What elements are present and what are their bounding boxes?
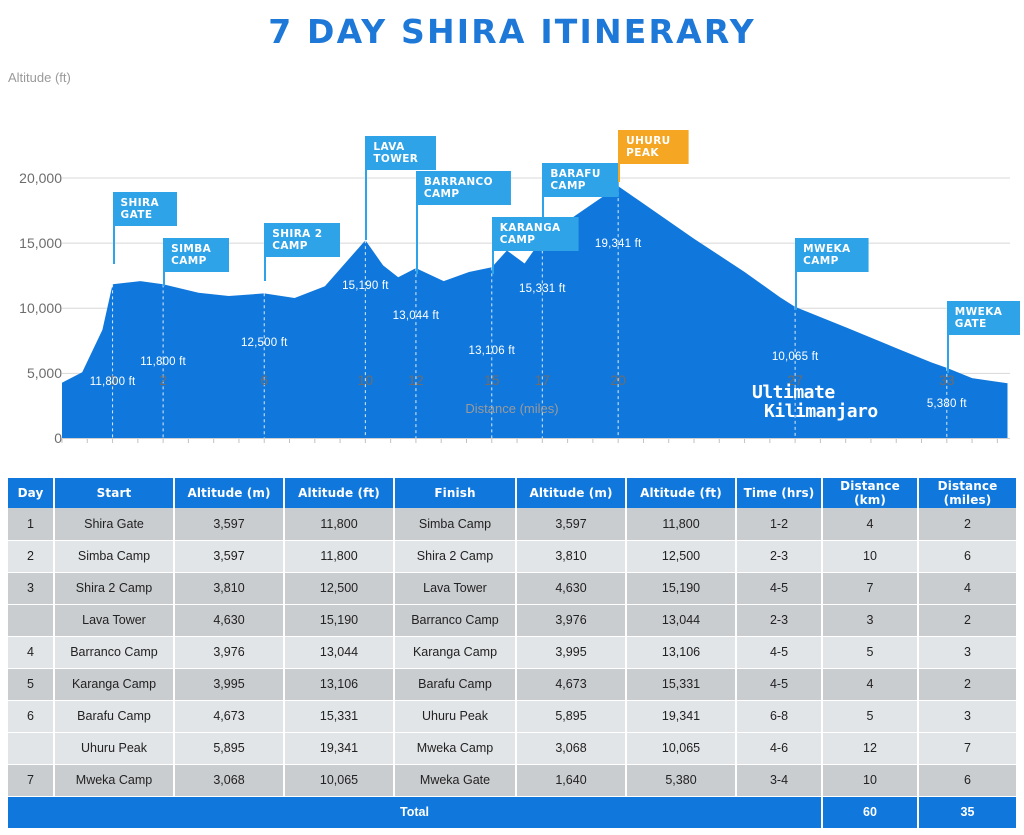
- table-cell: [8, 604, 54, 636]
- watermark-line2: Kilimanjaro: [764, 402, 878, 421]
- flag-banner: UHURUPEAK: [619, 130, 688, 164]
- table-row: Uhuru Peak5,89519,341Mweka Camp3,06810,0…: [8, 732, 1016, 764]
- table-cell: 4,630: [174, 604, 284, 636]
- x-axis-tick-label: 6: [260, 372, 268, 388]
- y-axis-tick-label: 15,000: [0, 235, 62, 251]
- table-row: 7Mweka Camp3,06810,065Mweka Gate1,6405,3…: [8, 764, 1016, 796]
- table-cell: Shira Gate: [54, 508, 174, 540]
- flag-label-line: TOWER: [373, 153, 418, 165]
- flag-label-line: SHIRA 2: [272, 228, 322, 240]
- table-column-header[interactable]: Time (hrs): [736, 478, 822, 508]
- table-cell: 10,065: [626, 732, 736, 764]
- table-cell: 3,810: [516, 540, 626, 572]
- x-axis-tick-label: 10: [358, 372, 374, 388]
- altitude-value-label: 12,500 ft: [241, 337, 288, 349]
- table-column-header[interactable]: Altitude (ft): [284, 478, 394, 508]
- table-cell: 5,380: [626, 764, 736, 796]
- table-cell: 12,500: [626, 540, 736, 572]
- flag-banner: SIMBACAMP: [164, 238, 229, 272]
- table-cell: 4-5: [736, 572, 822, 604]
- table-cell: 2-3: [736, 604, 822, 636]
- table-column-header[interactable]: Day: [8, 478, 54, 508]
- table-cell: 4: [918, 572, 1016, 604]
- altitude-value-label: 15,190 ft: [342, 280, 389, 292]
- table-cell: 19,341: [626, 700, 736, 732]
- x-axis-tick-label: 17: [535, 372, 551, 388]
- table-cell: 3,995: [174, 668, 284, 700]
- y-axis-tick-label: 10,000: [0, 300, 62, 316]
- table-cell: Mweka Camp: [54, 764, 174, 796]
- y-axis-title: Altitude (ft): [8, 70, 71, 85]
- flag-banner: MWEKACAMP: [796, 238, 868, 272]
- table-cell: 13,044: [626, 604, 736, 636]
- table-cell: [8, 732, 54, 764]
- flag-label-line: UHURU: [626, 135, 670, 147]
- table-column-header[interactable]: Altitude (ft): [626, 478, 736, 508]
- table-cell: 11,800: [626, 508, 736, 540]
- table-cell: 2: [918, 508, 1016, 540]
- altitude-value-label: 13,106 ft: [468, 345, 515, 357]
- table-cell: 6: [8, 700, 54, 732]
- table-cell: 4: [822, 668, 918, 700]
- table-cell: Barafu Camp: [54, 700, 174, 732]
- table-column-header[interactable]: Distance (km): [822, 478, 918, 508]
- table-cell: 4,673: [174, 700, 284, 732]
- table-header-row: DayStartAltitude (m)Altitude (ft)FinishA…: [8, 478, 1016, 508]
- table-cell: 13,044: [284, 636, 394, 668]
- table-cell: 4: [8, 636, 54, 668]
- table-cell: 3: [918, 700, 1016, 732]
- table-cell: 5: [822, 636, 918, 668]
- table-cell: 3,597: [516, 508, 626, 540]
- y-axis-tick-label: 5,000: [0, 365, 62, 381]
- table-row: 6Barafu Camp4,67315,331Uhuru Peak5,89519…: [8, 700, 1016, 732]
- table-cell: 3-4: [736, 764, 822, 796]
- table-cell: Uhuru Peak: [54, 732, 174, 764]
- table-cell: 4-5: [736, 668, 822, 700]
- table-cell: 3,976: [516, 604, 626, 636]
- table-body: 1Shira Gate3,59711,800Simba Camp3,59711,…: [8, 508, 1016, 828]
- flag-label-line: CAMP: [803, 255, 850, 267]
- table-column-header[interactable]: Finish: [394, 478, 516, 508]
- table-cell: 13,106: [626, 636, 736, 668]
- table-cell: 5,895: [516, 700, 626, 732]
- x-axis-tick-label: 33: [939, 372, 955, 388]
- x-axis-tick-label: 2: [159, 372, 167, 388]
- table-cell: 5: [822, 700, 918, 732]
- table-cell: 5,895: [174, 732, 284, 764]
- altitude-value-label: 11,800 ft: [140, 356, 186, 368]
- flag-banner: MWEKAGATE: [948, 301, 1020, 335]
- table-cell: 15,331: [626, 668, 736, 700]
- flag-label-line: SHIRA: [121, 197, 159, 209]
- table-cell: 4-6: [736, 732, 822, 764]
- table-cell: Uhuru Peak: [394, 700, 516, 732]
- table-column-header[interactable]: Altitude (m): [174, 478, 284, 508]
- table-cell: 3: [8, 572, 54, 604]
- y-axis-tick-label: 20,000: [0, 170, 62, 186]
- altitude-value-label: 19,341 ft: [595, 238, 642, 250]
- table-cell: 5: [8, 668, 54, 700]
- table-cell: Barranco Camp: [54, 636, 174, 668]
- page-title: 7 DAY SHIRA ITINERARY: [0, 0, 1024, 58]
- table-cell: 10: [822, 764, 918, 796]
- x-axis-tick-label: 12: [408, 372, 424, 388]
- table-cell: Mweka Camp: [394, 732, 516, 764]
- flag-label-line: GATE: [121, 209, 159, 221]
- table-row: 2Simba Camp3,59711,800Shira 2 Camp3,8101…: [8, 540, 1016, 572]
- table-cell: 15,190: [284, 604, 394, 636]
- altitude-value-label: 11,800 ft: [90, 376, 136, 388]
- altitude-value-label: 13,044 ft: [393, 310, 440, 322]
- altitude-value-label: 10,065 ft: [772, 351, 819, 363]
- table-row: 4Barranco Camp3,97613,044Karanga Camp3,9…: [8, 636, 1016, 668]
- table-cell: 13,106: [284, 668, 394, 700]
- itinerary-table: DayStartAltitude (m)Altitude (ft)FinishA…: [8, 478, 1016, 829]
- table-cell: 2-3: [736, 540, 822, 572]
- table-cell: 11,800: [284, 508, 394, 540]
- table-cell: 3,995: [516, 636, 626, 668]
- table-row: Lava Tower4,63015,190Barranco Camp3,9761…: [8, 604, 1016, 636]
- table-cell: 1: [8, 508, 54, 540]
- table-column-header[interactable]: Altitude (m): [516, 478, 626, 508]
- table-row: 5Karanga Camp3,99513,106Barafu Camp4,673…: [8, 668, 1016, 700]
- total-distance-km: 60: [822, 796, 918, 828]
- table-cell: Simba Camp: [54, 540, 174, 572]
- table-cell: 12: [822, 732, 918, 764]
- table-cell: Shira 2 Camp: [54, 572, 174, 604]
- flag-banner: LAVATOWER: [366, 136, 436, 170]
- table-cell: 12,500: [284, 572, 394, 604]
- table-cell: 19,341: [284, 732, 394, 764]
- altitude-value-label: 5,380 ft: [927, 398, 967, 410]
- table-cell: Shira 2 Camp: [394, 540, 516, 572]
- flag-label-line: MWEKA: [803, 243, 850, 255]
- flag-label-line: CAMP: [272, 240, 322, 252]
- flag-label-line: SIMBA: [171, 243, 211, 255]
- table-cell: 7: [918, 732, 1016, 764]
- table-cell: 10,065: [284, 764, 394, 796]
- watermark-logo: Ultimate Kilimanjaro: [752, 383, 878, 421]
- table-cell: 3,597: [174, 540, 284, 572]
- table-cell: Karanga Camp: [394, 636, 516, 668]
- table-cell: 2: [918, 668, 1016, 700]
- flag-banner: BARRANCOCAMP: [417, 171, 511, 205]
- table-cell: 3: [918, 636, 1016, 668]
- table-cell: 7: [8, 764, 54, 796]
- table-cell: 15,331: [284, 700, 394, 732]
- table-cell: 4,673: [516, 668, 626, 700]
- table-cell: 10: [822, 540, 918, 572]
- x-axis-tick-label: 15: [484, 372, 500, 388]
- table-header: DayStartAltitude (m)Altitude (ft)FinishA…: [8, 478, 1016, 508]
- table-cell: Karanga Camp: [54, 668, 174, 700]
- table-column-header[interactable]: Start: [54, 478, 174, 508]
- flag-label-line: BARAFU: [550, 168, 600, 180]
- table-cell: 1-2: [736, 508, 822, 540]
- table-cell: Barranco Camp: [394, 604, 516, 636]
- flag-label-line: KARANGA: [500, 222, 561, 234]
- total-label: Total: [8, 796, 822, 828]
- table-cell: Barafu Camp: [394, 668, 516, 700]
- total-distance-miles: 35: [918, 796, 1016, 828]
- table-row: 3Shira 2 Camp3,81012,500Lava Tower4,6301…: [8, 572, 1016, 604]
- table-cell: 3,810: [174, 572, 284, 604]
- table-cell: 2: [918, 604, 1016, 636]
- table-cell: 3: [822, 604, 918, 636]
- flag-banner: BARAFUCAMP: [543, 163, 618, 197]
- altitude-value-label: 15,331 ft: [519, 283, 566, 295]
- table-cell: 3,068: [174, 764, 284, 796]
- flag-banner: KARANGACAMP: [493, 217, 579, 251]
- x-axis-tick-marks: [62, 439, 997, 443]
- table-cell: 6: [918, 540, 1016, 572]
- flag-label-line: CAMP: [500, 234, 561, 246]
- table-cell: 6: [918, 764, 1016, 796]
- flag-banner: SHIRA 2CAMP: [265, 223, 340, 257]
- table-cell: Lava Tower: [394, 572, 516, 604]
- table-column-header[interactable]: Distance (miles): [918, 478, 1016, 508]
- x-axis-tick-label: 20: [610, 372, 626, 388]
- table-total-row: Total6035: [8, 796, 1016, 828]
- flag-banner: SHIRAGATE: [114, 192, 177, 226]
- flag-label-line: GATE: [955, 318, 1002, 330]
- flag-label-line: CAMP: [171, 255, 211, 267]
- table-cell: Simba Camp: [394, 508, 516, 540]
- table-cell: 15,190: [626, 572, 736, 604]
- table-cell: Lava Tower: [54, 604, 174, 636]
- flag-label-line: BARRANCO: [424, 176, 493, 188]
- elevation-profile-chart: Altitude (ft) Distance (miles) 05,00010,…: [0, 58, 1024, 443]
- flag-label-line: CAMP: [424, 188, 493, 200]
- table-cell: 2: [8, 540, 54, 572]
- table-cell: Mweka Gate: [394, 764, 516, 796]
- table-cell: 11,800: [284, 540, 394, 572]
- watermark-line1: Ultimate: [752, 383, 878, 402]
- y-axis-tick-label: 0: [0, 430, 62, 446]
- flag-label-line: LAVA: [373, 141, 418, 153]
- table-cell: 7: [822, 572, 918, 604]
- table-cell: 3,068: [516, 732, 626, 764]
- table-cell: 4: [822, 508, 918, 540]
- table-cell: 4,630: [516, 572, 626, 604]
- flag-label-line: CAMP: [550, 180, 600, 192]
- table-cell: 1,640: [516, 764, 626, 796]
- table-cell: 4-5: [736, 636, 822, 668]
- table-cell: 6-8: [736, 700, 822, 732]
- flag-label-line: MWEKA: [955, 306, 1002, 318]
- table-row: 1Shira Gate3,59711,800Simba Camp3,59711,…: [8, 508, 1016, 540]
- table-cell: 3,976: [174, 636, 284, 668]
- table-cell: 3,597: [174, 508, 284, 540]
- flag-label-line: PEAK: [626, 147, 670, 159]
